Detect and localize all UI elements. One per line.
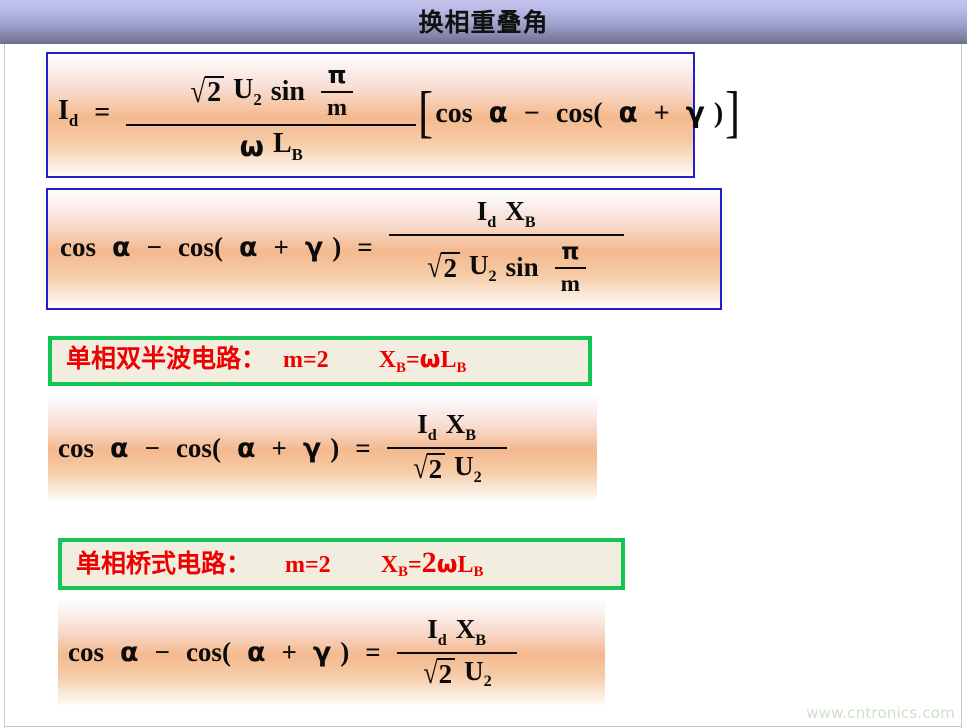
sqrt-icon: √2 bbox=[412, 453, 446, 484]
formula2-pi-over-m: π m bbox=[555, 238, 586, 298]
formula1-bracket-open: [ bbox=[418, 92, 433, 133]
formula1-lhs: Id bbox=[58, 95, 78, 131]
formula-cos-general: cosα−cos(α+γ) = Id XB √2 U2 s bbox=[60, 190, 624, 304]
caption-bridge-text: 单相桥式电路： m=2 XB=2ωLB bbox=[62, 548, 483, 580]
slide-title-bar: 换相重叠角 bbox=[0, 0, 967, 44]
formula3-denominator: √2 U2 bbox=[406, 451, 488, 487]
formula1-numerator: √2 U2 sin π m bbox=[183, 61, 359, 122]
formula2-lhs: cosα−cos(α+γ) bbox=[60, 232, 341, 263]
formula4-denominator: √2 U2 bbox=[416, 656, 498, 692]
formula3-numerator: Id XB bbox=[411, 409, 482, 445]
frame-line-left bbox=[4, 44, 5, 728]
formula-box-cos-bridge: cosα−cos(α+γ) = Id XB √2 U2 bbox=[58, 600, 605, 705]
slide-canvas: 换相重叠角 Id = √2 U2 sin bbox=[0, 0, 967, 728]
formula2-denominator: √2 U2 sin π m bbox=[420, 238, 592, 298]
formula1-lhs-sub: d bbox=[69, 111, 78, 131]
formula2-equals: = bbox=[357, 232, 372, 263]
caption-bridge: 单相桥式电路： m=2 XB=2ωLB bbox=[58, 538, 625, 590]
formula-id-expression: Id = √2 U2 sin π m bbox=[58, 54, 742, 172]
formula-cos-bridge: cosα−cos(α+γ) = Id XB √2 U2 bbox=[68, 600, 517, 705]
formula1-pi-over-m: π m bbox=[321, 61, 353, 122]
formula4-lhs: cosα−cos(α+γ) bbox=[68, 637, 349, 668]
formula1-equals: = bbox=[94, 97, 110, 129]
formula3-equals: = bbox=[355, 433, 370, 464]
caption-half-wave: 单相双半波电路： m=2 XB=ωLB bbox=[48, 336, 592, 386]
caption-bridge-reactance: XB=2ωLB bbox=[381, 552, 484, 578]
sqrt-icon: √2 bbox=[189, 76, 224, 108]
formula2-main-fraction: Id XB √2 U2 sin π bbox=[389, 196, 624, 298]
formula4-equals: = bbox=[365, 637, 380, 668]
formula3-main-fraction: Id XB √2 U2 bbox=[387, 409, 507, 487]
formula-box-id-expression: Id = √2 U2 sin π m bbox=[46, 52, 695, 178]
formula-cos-half-wave: cosα−cos(α+γ) = Id XB √2 U2 bbox=[58, 396, 507, 500]
formula2-numerator: Id XB bbox=[471, 196, 542, 232]
site-watermark: www.cntronics.com bbox=[806, 704, 955, 722]
formula1-denominator: ωLB bbox=[234, 128, 309, 164]
formula1-bracket-body: cosα−cos(α+γ) bbox=[435, 96, 723, 130]
formula-box-cos-general: cosα−cos(α+γ) = Id XB √2 U2 s bbox=[46, 188, 722, 310]
formula1-bracket-close: ] bbox=[725, 92, 740, 133]
sqrt-icon: √2 bbox=[426, 252, 460, 283]
frame-line-bottom bbox=[4, 726, 962, 727]
caption-bridge-m: m=2 bbox=[285, 552, 331, 578]
caption-half-wave-m: m=2 bbox=[283, 347, 329, 373]
formula4-main-fraction: Id XB √2 U2 bbox=[397, 614, 517, 692]
caption-half-wave-circuit: 单相双半波电路： bbox=[66, 344, 266, 373]
formula4-numerator: Id XB bbox=[421, 614, 492, 650]
formula3-lhs: cosα−cos(α+γ) bbox=[58, 433, 339, 464]
frame-line-right bbox=[961, 44, 962, 728]
caption-half-wave-reactance: XB=ωLB bbox=[379, 347, 467, 373]
formula-box-cos-half-wave: cosα−cos(α+γ) = Id XB √2 U2 bbox=[48, 396, 597, 500]
formula1-main-fraction: √2 U2 sin π m ωLB bbox=[126, 61, 416, 164]
caption-half-wave-text: 单相双半波电路： m=2 XB=ωLB bbox=[52, 346, 466, 375]
sqrt-icon: √2 bbox=[422, 658, 456, 689]
caption-bridge-circuit: 单相桥式电路： bbox=[76, 549, 251, 578]
page-title: 换相重叠角 bbox=[418, 10, 548, 35]
